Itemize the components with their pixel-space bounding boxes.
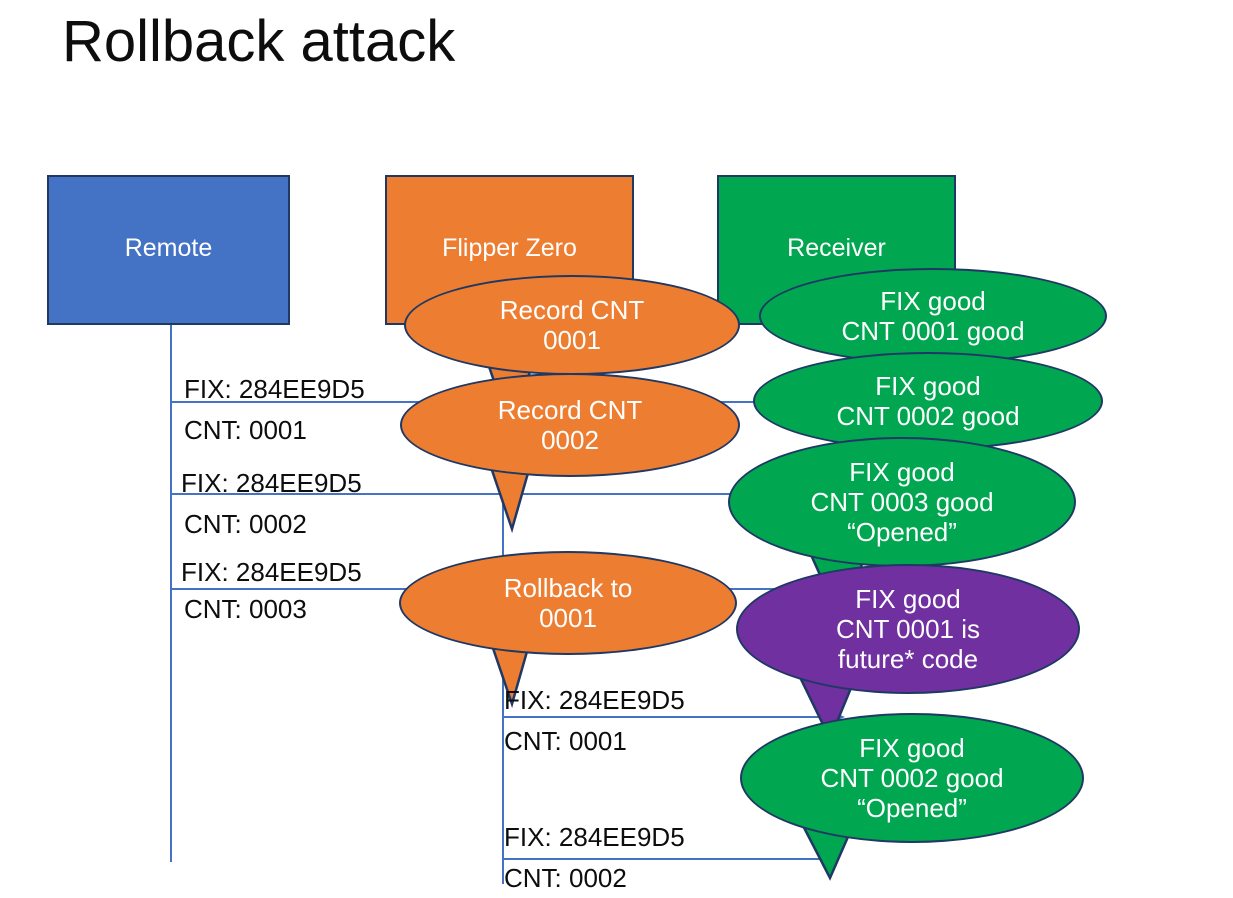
callout-line: Record CNT bbox=[500, 295, 644, 325]
slide-canvas: Rollback attack Remote Flipper Zero Rece… bbox=[0, 0, 1233, 898]
callout-line: CNT 0003 good bbox=[810, 487, 993, 517]
flipper-callout-1[interactable]: Record CNT 0001 bbox=[404, 275, 740, 375]
callout-line: CNT 0002 good bbox=[820, 763, 1003, 793]
msg-3-fix: FIX: 284EE9D5 bbox=[181, 559, 362, 585]
msg-5-cnt: CNT: 0002 bbox=[504, 865, 627, 891]
msg-4-cnt: CNT: 0001 bbox=[504, 728, 627, 754]
actor-label-flipper: Flipper Zero bbox=[442, 236, 577, 261]
callout-line: FIX good bbox=[875, 371, 981, 401]
receiver-callout-1[interactable]: FIX good CNT 0001 good bbox=[759, 268, 1107, 364]
msg-3-cnt: CNT: 0003 bbox=[184, 596, 307, 622]
callout-line: FIX good bbox=[859, 733, 965, 763]
callout-line: Record CNT bbox=[498, 395, 642, 425]
callout-line: 0002 bbox=[541, 425, 599, 455]
msg-4-fix: FIX: 284EE9D5 bbox=[504, 687, 685, 713]
receiver-callout-5[interactable]: FIX good CNT 0002 good “Opened” bbox=[740, 713, 1084, 843]
callout-line: FIX good bbox=[880, 286, 986, 316]
msg-2-cnt: CNT: 0002 bbox=[184, 511, 307, 537]
flipper-callout-2[interactable]: Record CNT 0002 bbox=[400, 373, 740, 477]
callout-line: CNT 0002 good bbox=[836, 401, 1019, 431]
callout-line: 0001 bbox=[543, 325, 601, 355]
callout-line: FIX good bbox=[849, 457, 955, 487]
actor-box-remote[interactable]: Remote bbox=[47, 175, 290, 325]
msg-2-fix: FIX: 284EE9D5 bbox=[181, 470, 362, 496]
actor-label-receiver: Receiver bbox=[787, 236, 886, 261]
callout-line: Rollback to bbox=[504, 573, 633, 603]
receiver-callout-4[interactable]: FIX good CNT 0001 is future* code bbox=[736, 564, 1080, 694]
callout-line: CNT 0001 is bbox=[836, 614, 980, 644]
msg-5-fix: FIX: 284EE9D5 bbox=[504, 824, 685, 850]
receiver-callout-2[interactable]: FIX good CNT 0002 good bbox=[753, 352, 1103, 450]
receiver-callout-3[interactable]: FIX good CNT 0003 good “Opened” bbox=[728, 437, 1076, 567]
callout-line: 0001 bbox=[539, 603, 597, 633]
msg-1-cnt: CNT: 0001 bbox=[184, 417, 307, 443]
callout-line: FIX good bbox=[855, 584, 961, 614]
callout-line: “Opened” bbox=[857, 793, 967, 823]
callout-line: future* code bbox=[838, 644, 978, 674]
callout-line: “Opened” bbox=[847, 517, 957, 547]
flipper-callout-3[interactable]: Rollback to 0001 bbox=[399, 551, 737, 655]
actor-label-remote: Remote bbox=[125, 236, 213, 261]
msg-1-fix: FIX: 284EE9D5 bbox=[184, 376, 365, 402]
callout-line: CNT 0001 good bbox=[841, 316, 1024, 346]
